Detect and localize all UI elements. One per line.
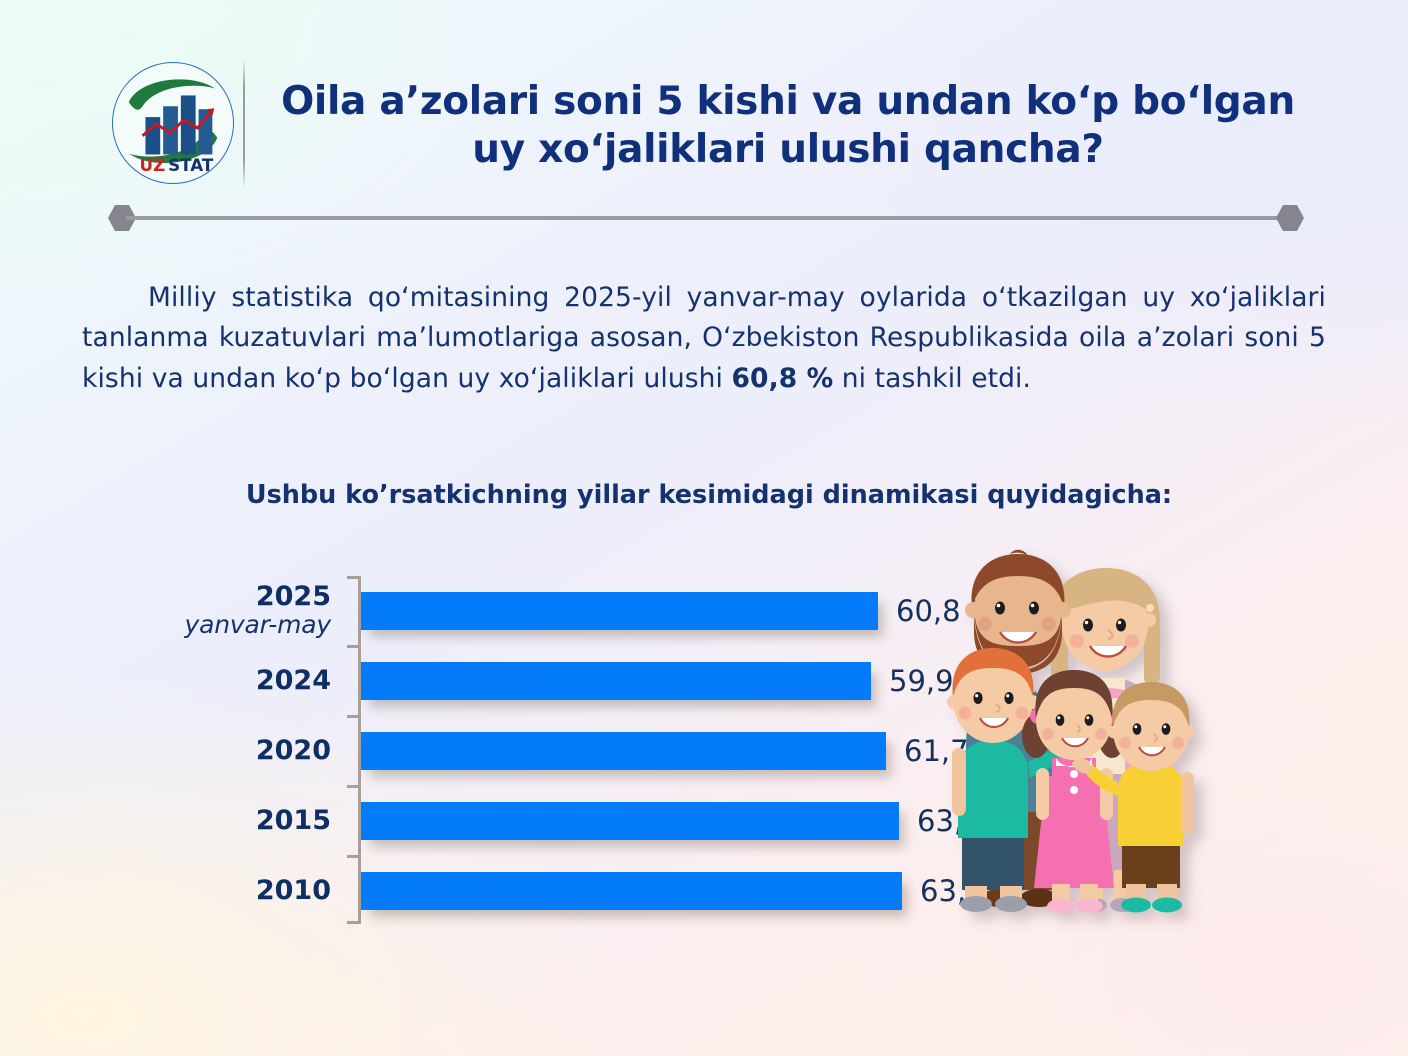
boy-younger-shoe-right [1152,898,1182,913]
rule-line [126,216,1286,220]
mother-eye-highlight-right [1118,621,1121,624]
boy-older-eye-highlight-right [1006,694,1009,697]
chart-axis-tick [347,855,358,858]
chart-bar [361,872,902,910]
chart-category-label: 2015 [150,807,345,836]
family-illustration-graphic [938,548,1228,940]
girl-eye-left [1056,714,1065,726]
mother-earring [1146,604,1154,612]
logo-bar-4 [199,109,213,154]
girl-blush-right [1095,728,1107,740]
father-blush-right [1042,617,1056,631]
chart-category-sublabel: yanvar-may [150,612,331,639]
boy-younger-eye-right [1162,723,1171,735]
boy-younger-ear-right [1182,726,1195,739]
header: UZ STAT Oila a’zolari soni 5 kishi va un… [0,0,1408,196]
father-eye-right [1029,602,1039,615]
boy-older-blush-right [1016,707,1029,720]
boy-older-shoe-right [995,896,1027,912]
chart-bar-row: 2025yanvar-may60,8 % [150,576,910,646]
boy-older-arm-left [952,748,966,816]
father-eye-left [995,602,1005,615]
logo-text-uz: UZ [140,155,166,175]
girl-button-2 [1070,786,1078,794]
family-of-five-illustration [938,548,1228,940]
boy-older-eye-right [1004,692,1013,704]
girl-eye-highlight-left [1057,716,1060,719]
paragraph-text-after: ni tashkil etdi. [833,363,1031,394]
father-blush-left [978,617,992,631]
page-title: Oila a’zolari soni 5 kishi va undan ko‘p… [268,78,1308,173]
mother-blush-right [1125,634,1139,648]
girl-arm-left [1036,768,1049,820]
chart-bar-track: 63,3 % [361,786,910,856]
boy-younger-ear-left [1108,726,1121,739]
boy-older-shirt [958,740,1028,838]
boy-younger-shirt [1118,762,1184,846]
chart-bar-track: 63,6 % [361,856,910,926]
mother-eye-highlight-left [1085,621,1088,624]
intro-paragraph: Milliy statistika qo‘mitasining 2025-yil… [82,278,1326,399]
chart-bar [361,592,878,630]
chart-bar [361,802,899,840]
chart-bar-row: 202459,9 % [150,646,910,716]
chart-bar [361,662,871,700]
boy-younger-shoe-left [1121,898,1151,913]
chart-category-label: 2024 [150,667,345,696]
girl-button-1 [1070,770,1078,778]
hexagon-right-icon [1276,205,1304,231]
boy-younger-eye-left [1133,723,1142,735]
logo-container: UZ STAT [112,62,234,184]
chart-subheading: Ushbu ko’rsatkichning yillar kesimidagi … [0,480,1408,510]
chart-bar [361,732,886,770]
boy-older-blush-left [959,707,972,720]
mother-ear [1142,613,1156,627]
girl-eye-right [1085,714,1094,726]
father-ear-right [1055,602,1071,618]
bar-chart: 2025yanvar-may60,8 %202459,9 %202061,7 %… [150,562,910,938]
boy-younger-eye-highlight-left [1134,725,1137,728]
chart-axis-tick [347,645,358,648]
boy-older-eye-left [973,692,982,704]
girl-shoe-left [1047,899,1075,913]
girl-blush-left [1042,728,1054,740]
chart-bar-track: 60,8 % [361,576,910,646]
chart-bar-track: 59,9 % [361,646,910,716]
family-group [947,550,1195,913]
boy-younger-eye-highlight-right [1163,725,1166,728]
header-divider [243,58,245,188]
girl-eye-highlight-right [1086,716,1089,719]
boy-younger-blush-right [1172,737,1184,749]
logo-bar-1 [145,117,160,154]
chart-bar-track: 61,7 % [361,716,910,786]
mother-blush-left [1070,634,1084,648]
swoosh-top-icon [129,79,216,109]
paragraph-text-before: Milliy statistika qo‘mitasining 2025-yil… [82,282,1326,394]
chart-category-label: 2020 [150,737,345,766]
girl-shoe-right [1075,899,1103,913]
chart-bar-row: 202061,7 % [150,716,910,786]
logo-text-stat: STAT [168,155,214,175]
chart-bar-row: 201563,3 % [150,786,910,856]
boy-older-shoe-left [960,896,992,912]
father-ear-left [965,602,981,618]
chart-axis-tick [347,785,358,788]
chart-axis-tick [347,715,358,718]
mother-eye-left [1083,619,1093,632]
chart-category-label: 2010 [150,877,345,906]
chart-bar-row: 201063,6 % [150,856,910,926]
boy-younger-blush-left [1119,737,1131,749]
boy-older-eye-highlight-left [975,694,978,697]
uzstat-logo: UZ STAT [112,62,234,184]
uzstat-logo-graphic: UZ STAT [113,63,233,183]
father-eye-highlight-left [997,604,1001,608]
boy-younger-arm-right [1181,772,1194,834]
mother-eye-right [1116,619,1126,632]
father-eye-highlight-right [1031,604,1035,608]
boy-older-ear-left [947,695,961,709]
chart-category-label: 2025yanvar-may [150,583,345,638]
decorative-rule [108,205,1304,231]
paragraph-highlight-value: 60,8 % [732,363,834,394]
